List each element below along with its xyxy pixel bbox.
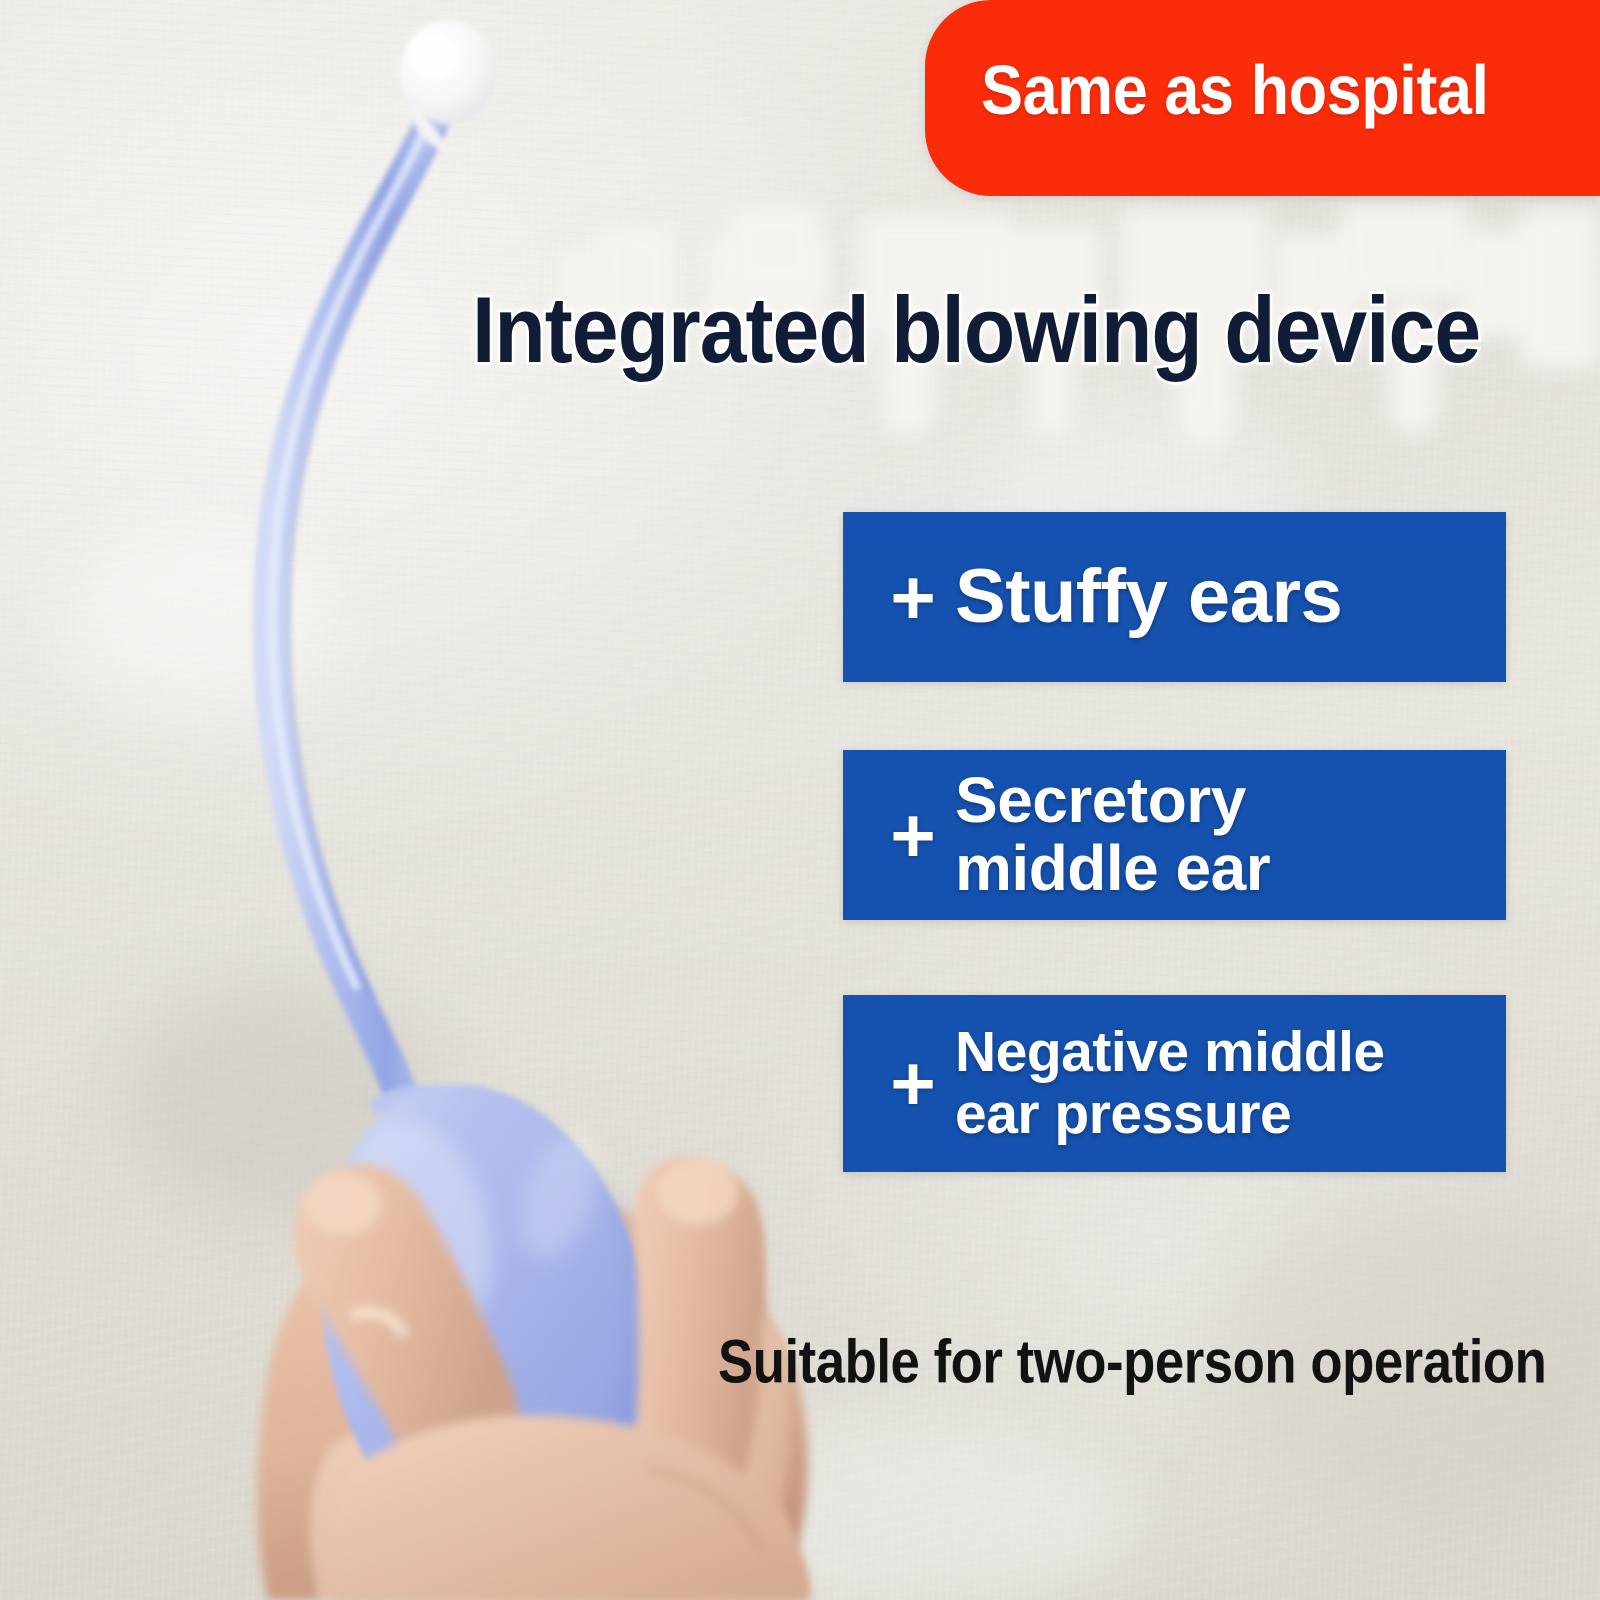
feature-line: Negative middle <box>955 1022 1385 1084</box>
feature-box-stuffy-ears: + Stuffy ears <box>843 512 1506 682</box>
feature-label: Stuffy ears <box>955 559 1342 635</box>
page-title: Integrated blowing device <box>472 276 1480 384</box>
feature-label: Negative middle ear pressure <box>955 1022 1385 1145</box>
feature-box-secretory-middle-ear: + Secretory middle ear <box>843 750 1506 920</box>
feature-line: Secretory <box>955 767 1270 835</box>
plus-icon: + <box>871 570 955 625</box>
feature-line: ear pressure <box>955 1084 1385 1146</box>
badge-label: Same as hospital <box>981 50 1521 130</box>
feature-box-negative-middle-ear-pressure: + Negative middle ear pressure <box>843 995 1506 1172</box>
feature-label: Secretory middle ear <box>955 767 1270 903</box>
same-as-hospital-badge: Same as hospital <box>925 0 1600 196</box>
plus-icon: + <box>871 808 955 863</box>
product-marketing-image: Same as hospital Integrated blowing devi… <box>0 0 1600 1600</box>
feature-line: middle ear <box>955 835 1270 903</box>
bottom-caption: Suitable for two-person operation <box>718 1327 1546 1398</box>
plus-icon: + <box>871 1056 955 1111</box>
feature-line: Stuffy ears <box>955 559 1342 635</box>
